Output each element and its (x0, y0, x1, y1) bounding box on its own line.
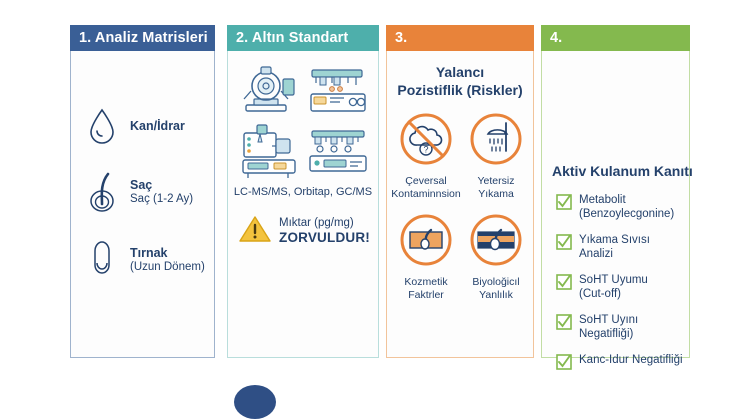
evidence-label: SoHT Uyumu (Cut-off) (579, 273, 648, 301)
cosmetic-hair-icon (398, 212, 454, 273)
evidence-list: Metabolit (Benzoylecgonine) Yıkama Sıvıs… (556, 193, 683, 387)
panel-altin-standart: 2. Altın Standart (227, 25, 379, 358)
lc-ms-instrument-icon (238, 123, 302, 181)
panel-yalanci-pozistiflik: 3. Yalancı Pozistiflik (Riskler) ? (386, 25, 534, 358)
panel-1-header-label: 1. Analiz Matrisleri (79, 30, 208, 46)
biological-hair-icon (468, 212, 524, 273)
list-item[interactable]: Yıkama Sıvısı Analizi (556, 233, 683, 261)
panel-1-body: Kan/İdrar Saç Saç (1-2 Ay) (70, 51, 215, 358)
matrix-label-group: Saç Saç (1-2 Ay) (130, 178, 193, 206)
risk-item-insufficient-washing: Yetersiz Yıkama (464, 111, 528, 200)
risk-label: Çeversal Kontaminnsion (391, 175, 460, 200)
panel-1-header: 1. Analiz Matrisleri (70, 25, 215, 51)
evidence-line-1: Kanc-Idur Negatifliği (579, 353, 683, 367)
panel-3-header-label: 3. (395, 30, 407, 46)
risk-label: Yetersiz Yıkama (478, 175, 515, 200)
no-environmental-contamination-icon: ? (398, 111, 454, 172)
checkbox-checked-icon[interactable] (556, 354, 572, 375)
blood-drop-icon (83, 103, 121, 149)
partial-circle-shape (234, 385, 276, 419)
svg-text:?: ? (423, 145, 428, 155)
checkbox-checked-icon[interactable] (556, 274, 572, 295)
evidence-line-1: Metabolit (579, 193, 674, 207)
evidence-line-2: (Benzoylecgonine) (579, 207, 674, 221)
risk-grid: ? Çeversal Kontaminnsion (393, 111, 529, 301)
panel-aktiv-kulanum-kaniti: 4. Aktiv Kulanum Kanıtı Metabolit (Benzo… (541, 25, 690, 358)
panel-4-header: 4. (541, 25, 690, 51)
mass-spectrometer-icon (238, 61, 302, 119)
warning-line-1: Mıktar (pg/mg) (279, 217, 370, 231)
risk-label-line-2: Yıkama (478, 188, 515, 201)
risk-label-line-1: Kozmetik (404, 276, 447, 289)
evidence-label: Kanc-Idur Negatifliği (579, 353, 683, 367)
matrix-item-blood-urine: Kan/İdrar (83, 103, 185, 149)
fingernail-icon (83, 237, 121, 283)
panel-2-header-label: 2. Altın Standart (236, 30, 348, 46)
evidence-line-1: Yıkama Sıvısı Analizi (579, 233, 683, 261)
list-item[interactable]: SoHT Uyumu (Cut-off) (556, 273, 683, 301)
warning-line-2: ZORVULDUR! (279, 230, 370, 246)
evidence-label: Metabolit (Benzoylecgonine) (579, 193, 674, 221)
matrix-item-hair: Saç Saç (1-2 Ay) (83, 169, 193, 215)
panel-3-title-line-1: Yalancı (387, 63, 533, 81)
list-item[interactable]: Metabolit (Benzoylecgonine) (556, 193, 683, 221)
list-item[interactable]: Kanc-Idur Negatifliği (556, 353, 683, 375)
shower-icon (468, 111, 524, 172)
matrix-main-label: Saç (130, 178, 193, 192)
instrument-grid (236, 61, 372, 181)
warning-triangle-icon (238, 214, 272, 249)
matrix-item-nail: Tırnak (Uzun Dönem) (83, 237, 205, 283)
panel-4-header-label: 4. (550, 30, 562, 46)
panel-4-body: Aktiv Kulanum Kanıtı Metabolit (Benzoyle… (541, 51, 690, 358)
checkbox-checked-icon[interactable] (556, 194, 572, 215)
panel-2-body: LC-MS/MS, Orbitap, GC/MS Mıktar (pg/mg) … (227, 51, 379, 358)
warning-text-group: Mıktar (pg/mg) ZORVULDUR! (279, 217, 370, 247)
infographic-board: 1. Analiz Matrisleri Kan/İdrar (0, 0, 750, 400)
panel-3-header: 3. (386, 25, 534, 51)
evidence-line-1: SoHT Uyumu (579, 273, 648, 287)
evidence-label: SoHT Uyını Negatifliği) (579, 313, 683, 341)
panel-3-title: Yalancı Pozistiflik (Riskler) (387, 63, 533, 99)
risk-item-environmental-contamination: ? Çeversal Kontaminnsion (394, 111, 458, 200)
risk-label: Kozmetik Faktrler (404, 276, 447, 301)
hair-follicle-icon (83, 169, 121, 215)
checkbox-checked-icon[interactable] (556, 314, 572, 335)
risk-label: Biyoloğicıl Yanlılık (472, 276, 519, 301)
matrix-sub-label: Saç (1-2 Ay) (130, 193, 193, 206)
checkbox-checked-icon[interactable] (556, 234, 572, 255)
risk-label-line-2: Yanlılık (472, 289, 519, 302)
risk-item-cosmetic-factors: Kozmetik Faktrler (394, 212, 458, 301)
panel-3-body: Yalancı Pozistiflik (Riskler) ? (386, 51, 534, 358)
risk-item-biological-bias: Biyoloğicıl Yanlılık (464, 212, 528, 301)
matrix-sub-label: (Uzun Dönem) (130, 261, 205, 274)
matrix-label-group: Tırnak (Uzun Dönem) (130, 246, 205, 274)
techniques-label: LC-MS/MS, Orbitap, GC/MS (228, 186, 378, 198)
evidence-label: Yıkama Sıvısı Analizi (579, 233, 683, 261)
matrix-main-label: Tırnak (130, 246, 205, 260)
panel-4-title: Aktiv Kulanum Kanıtı (552, 163, 693, 179)
risk-label-line-2: Faktrler (404, 289, 447, 302)
panel-3-title-line-2: Pozistiflik (Riskler) (387, 81, 533, 99)
risk-label-line-1: Biyoloğicıl (472, 276, 519, 289)
matrix-main-label: Kan/İdrar (130, 119, 185, 133)
risk-label-line-1: Yetersiz (478, 175, 515, 188)
panel-analiz-matrisleri: 1. Analiz Matrisleri Kan/İdrar (70, 25, 215, 358)
matrix-label-group: Kan/İdrar (130, 119, 185, 133)
gc-ms-rack-icon (306, 123, 370, 181)
evidence-line-2: (Cut-off) (579, 287, 648, 301)
risk-label-line-1: Çeversal (391, 175, 460, 188)
evidence-line-1: SoHT Uyını Negatifliği) (579, 313, 683, 341)
panel-2-header: 2. Altın Standart (227, 25, 379, 51)
risk-label-line-2: Kontaminnsion (391, 188, 460, 201)
quantity-warning: Mıktar (pg/mg) ZORVULDUR! (238, 214, 370, 249)
list-item[interactable]: SoHT Uyını Negatifliği) (556, 313, 683, 341)
chromatograph-bench-icon (306, 61, 370, 119)
